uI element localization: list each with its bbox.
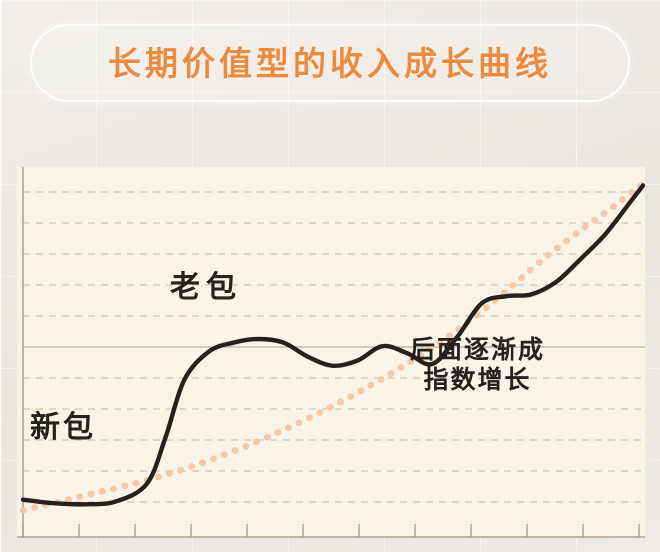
title-pill: 长期价值型的收入成长曲线 <box>30 24 630 102</box>
note-line-1: 后面逐渐成 <box>410 336 545 366</box>
plot-background <box>17 167 645 538</box>
label-old-package: 老包 <box>170 270 242 305</box>
note-line-2: 指数增长 <box>410 366 545 396</box>
label-new-package: 新包 <box>30 410 96 445</box>
page-title: 长期价值型的收入成长曲线 <box>108 47 552 80</box>
label-exponential-note: 后面逐渐成 指数增长 <box>410 336 545 395</box>
growth-curve-chart <box>17 167 645 538</box>
chart-panel <box>17 167 645 538</box>
